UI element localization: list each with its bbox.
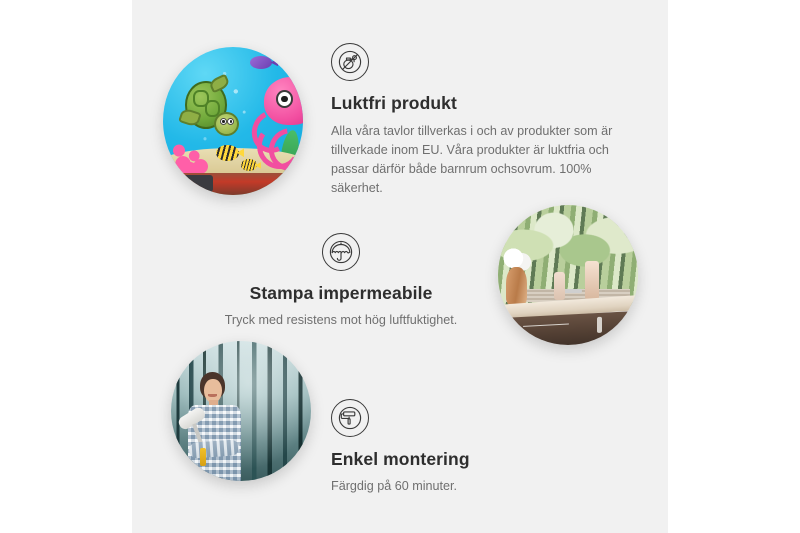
purple-fish	[250, 56, 272, 69]
toiletry-bottle-b	[585, 261, 599, 300]
feature-easy-mounting: Enkel montering Färgdig på 60 minuter.	[331, 399, 581, 496]
small-fish	[241, 159, 256, 171]
paint-roller-icon	[331, 399, 369, 437]
feature-title: Luktfri produkt	[331, 93, 619, 115]
pink-coral	[171, 133, 210, 177]
feature-body: Tryck med resistens mot hög luftfuktighe…	[205, 311, 477, 330]
feature-image-woman-with-paint-roller-forest-wallpaper	[171, 341, 311, 481]
bottom-photo-strip	[163, 173, 303, 195]
feature-odourless: Luktfri produkt Alla våra tavlor tillver…	[331, 43, 619, 198]
yellow-fish	[216, 145, 238, 161]
feature-image-underwater-kids-scene	[163, 47, 303, 195]
feature-image-bathroom-vanity-tropical-wallpaper	[498, 205, 638, 345]
faucet	[562, 289, 582, 293]
feature-title: Enkel montering	[331, 449, 581, 471]
copper-vase	[506, 267, 527, 306]
feature-waterproof: Stampa impermeabile Tryck med resistens …	[205, 233, 477, 330]
promo-infographic: Luktfri produkt Alla våra tavlor tillver…	[0, 0, 800, 533]
woman-illustration	[179, 372, 260, 481]
feature-body: Alla våra tavlor tillverkas i och av pro…	[331, 122, 613, 199]
feature-body: Färgdig på 60 minuter.	[331, 477, 581, 496]
umbrella-icon	[322, 233, 360, 271]
no-fragrance-icon	[331, 43, 369, 81]
feature-title: Stampa impermeabile	[205, 283, 477, 305]
vanity-cabinet	[509, 311, 638, 345]
octopus-illustration	[255, 77, 303, 160]
hand-tool	[200, 448, 206, 466]
turtle-illustration	[178, 80, 240, 139]
toiletry-bottle-a	[554, 272, 565, 300]
